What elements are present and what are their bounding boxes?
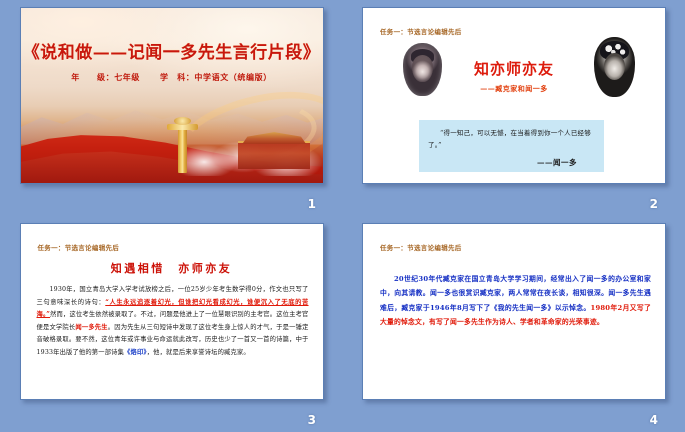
slide-3-body: 1930年，国立青岛大学入学考试放榜之后，一位25岁少年考生数学得0分，作文也只… (37, 284, 309, 360)
huabiao-column-icon (178, 127, 188, 173)
task-label-3: 任务一：节选言论编辑先后 (38, 242, 120, 252)
body-run-highlight-booktitle: 《烙印》 (124, 349, 147, 356)
slide-2[interactable]: 任务一：节选言论编辑先后 知亦师亦友 ——臧克家和闻一多 “得一知己，可以无憾，… (362, 7, 666, 184)
slide-cell-4: 任务一：节选言论编辑先后 20世纪30年代臧克家在国立青岛大学学习期间，经常出入… (343, 216, 685, 432)
body-run-highlight-name: 闻一多先生 (75, 324, 107, 331)
quote-box: “得一知己，可以无憾，在当着得到你一个人已经够了。” ——闻一多 (419, 120, 604, 172)
slide-cell-1: 《说和做——记闻一多先生言行片段》 年 级：七年级学 科：中学语文（统编版） 1 (0, 0, 343, 216)
slide-1[interactable]: 《说和做——记闻一多先生言行片段》 年 级：七年级学 科：中学语文（统编版） (20, 7, 324, 184)
quote-attribution: ——闻一多 (428, 157, 595, 168)
slide-number-3: 3 (308, 413, 316, 427)
slide-4[interactable]: 任务一：节选言论编辑先后 20世纪30年代臧克家在国立青岛大学学习期间，经常出入… (362, 223, 666, 400)
portrait-hair-right (600, 41, 630, 60)
slide-2-subheading: ——臧克家和闻一多 (363, 84, 665, 94)
slide-thumbnail-grid: 《说和做——记闻一多先生言行片段》 年 级：七年级学 科：中学语文（统编版） 1… (0, 0, 685, 432)
slide-1-text-block: 《说和做——记闻一多先生言行片段》 年 级：七年级学 科：中学语文（统编版） (21, 38, 323, 83)
slide-number-1: 1 (308, 197, 316, 211)
slide-3-title: 知遇相惜 亦师亦友 (21, 260, 323, 276)
presentation-subtitle: 年 级：七年级学 科：中学语文（统编版） (21, 72, 323, 83)
task-label-2: 任务一：节选言论编辑先后 (380, 26, 462, 36)
grade-value: 七年级 (114, 72, 140, 83)
slide-cell-2: 任务一：节选言论编辑先后 知亦师亦友 ——臧克家和闻一多 “得一知己，可以无憾，… (343, 0, 685, 216)
subject-label: 学 科： (160, 72, 194, 83)
quote-text: “得一知己，可以无憾，在当着得到你一个人已经够了。” (428, 127, 595, 151)
slide-3[interactable]: 任务一：节选言论编辑先后 知遇相惜 亦师亦友 1930年，国立青岛大学入学考试放… (20, 223, 324, 400)
tiananmen-gate-icon (238, 141, 310, 169)
task-label-4: 任务一：节选言论编辑先后 (380, 242, 462, 252)
subject-value: 中学语文（统编版） (194, 72, 271, 83)
presentation-title: 《说和做——记闻一多先生言行片段》 (21, 38, 323, 63)
slide-number-2: 2 (650, 197, 658, 211)
slide-4-body: 20世纪30年代臧克家在国立青岛大学学习期间，经常出入了闻一多的办公室和家中，向… (380, 272, 651, 329)
grade-label: 年 级： (71, 72, 114, 83)
slide-number-4: 4 (650, 413, 658, 427)
slide-2-heading: 知亦师亦友 (363, 58, 665, 79)
slide-cell-3: 任务一：节选言论编辑先后 知遇相惜 亦师亦友 1930年，国立青岛大学入学考试放… (0, 216, 343, 432)
body-run: ，他，就是后来享誉诗坛的臧克家。 (147, 349, 250, 356)
